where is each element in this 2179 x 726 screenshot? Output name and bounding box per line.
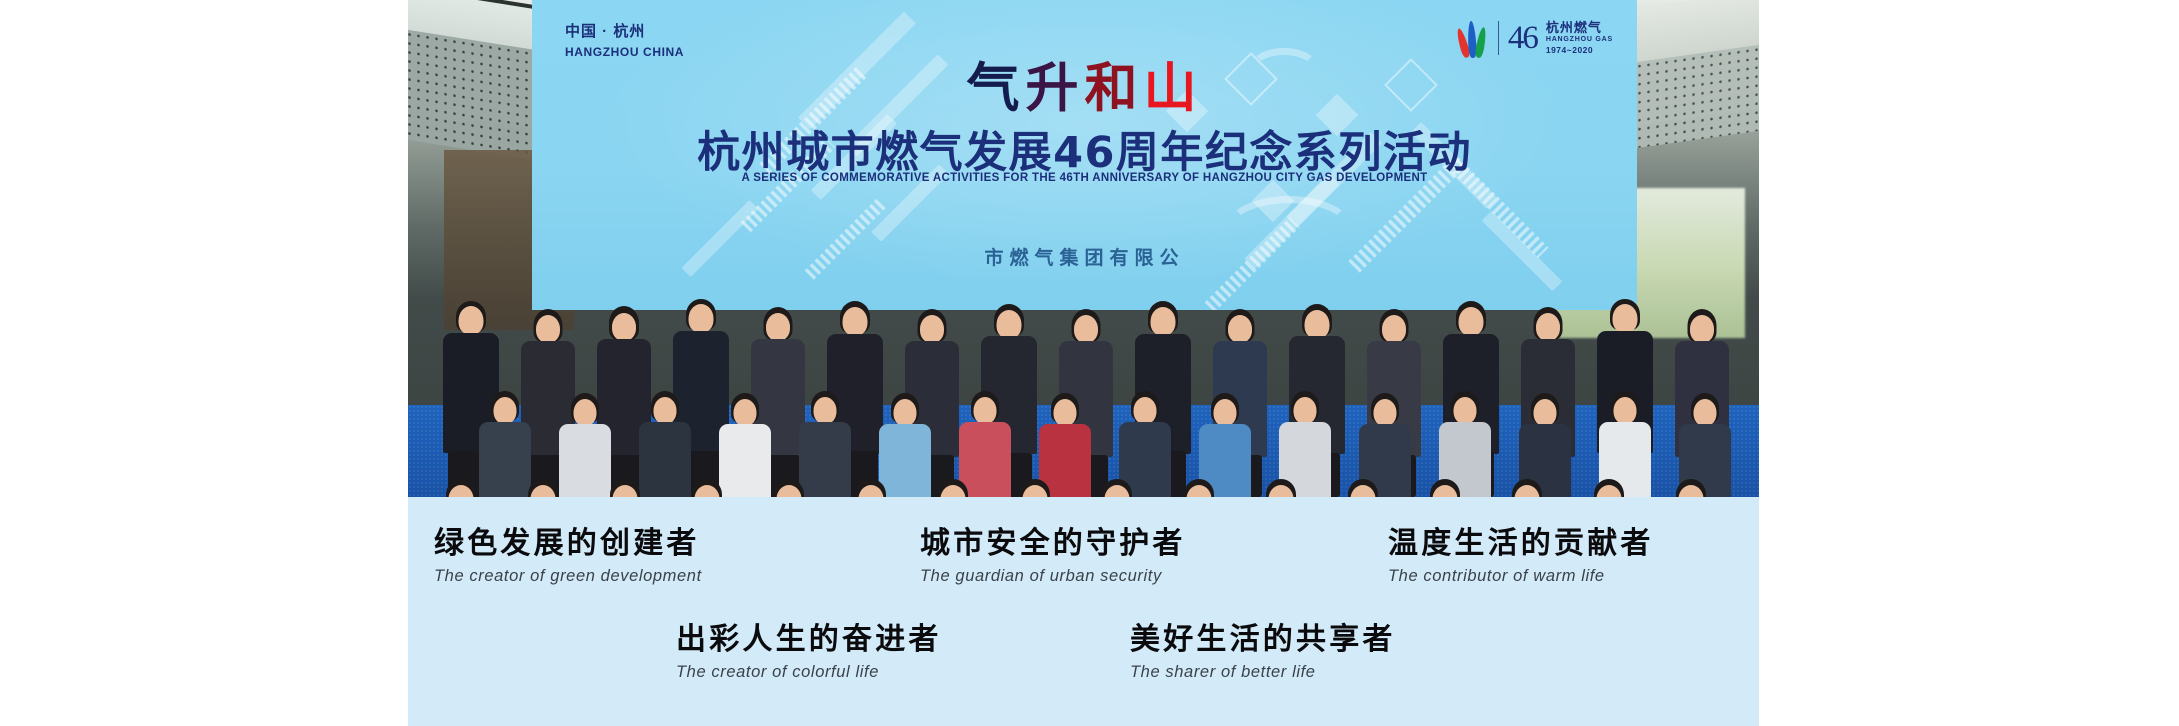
brand-text: 杭州燃气 HANGZHOU GAS 1974~2020 [1546, 20, 1613, 56]
person [512, 479, 574, 497]
person [1250, 479, 1312, 497]
slogan-cn: 美好生活的共享者 [1130, 623, 1396, 656]
flame-icon [1459, 18, 1489, 58]
content-column: 中国 · 杭州 HANGZHOU CHINA 46 杭州燃气 HANGZHOU … [408, 0, 1759, 726]
slogan-en: The contributor of warm life [1388, 567, 1654, 586]
anniversary-years: 1974~2020 [1546, 45, 1613, 56]
person [758, 479, 820, 497]
person [676, 479, 738, 497]
slogan-item-3: 温度生活的贡献者 The contributor of warm life [1388, 527, 1654, 586]
person [1004, 479, 1066, 497]
slogan-item-5: 美好生活的共享者 The sharer of better life [1130, 623, 1396, 682]
location-cn: 中国 · 杭州 [565, 24, 684, 41]
crowd [408, 170, 1759, 497]
screenshot-canvas: 中国 · 杭州 HANGZHOU CHINA 46 杭州燃气 HANGZHOU … [0, 0, 2179, 726]
slogan-item-1: 绿色发展的创建者 The creator of green developmen… [434, 527, 702, 586]
person [922, 479, 984, 497]
person [1086, 479, 1148, 497]
wordmark-char-3: 和 [1085, 58, 1144, 119]
person [1414, 479, 1476, 497]
location-block: 中国 · 杭州 HANGZHOU CHINA [565, 24, 684, 59]
slogan-cn: 绿色发展的创建者 [434, 527, 702, 560]
person [1496, 479, 1558, 497]
group-photo: 中国 · 杭州 HANGZHOU CHINA 46 杭州燃气 HANGZHOU … [408, 0, 1759, 497]
event-wordmark: 气升和山 [967, 46, 1203, 122]
person [1332, 479, 1394, 497]
slogan-en: The creator of colorful life [676, 663, 942, 682]
person [1168, 479, 1230, 497]
logo-divider [1498, 21, 1499, 55]
company-name-en: HANGZHOU GAS [1546, 36, 1613, 45]
person [594, 479, 656, 497]
slogan-en: The guardian of urban security [920, 567, 1186, 586]
company-name-cn: 杭州燃气 [1546, 20, 1613, 36]
slogan-en: The creator of green development [434, 567, 702, 586]
slogan-cn: 温度生活的贡献者 [1388, 527, 1654, 560]
anniversary-number: 46 [1508, 22, 1537, 55]
person [1660, 479, 1722, 497]
house-roof-icon [1248, 48, 1320, 92]
slogan-en: The sharer of better life [1130, 663, 1396, 682]
wordmark-char-4: 山 [1144, 58, 1203, 119]
slogan-cn: 城市安全的守护者 [920, 527, 1186, 560]
slogan-item-4: 出彩人生的奋进者 The creator of colorful life [676, 623, 942, 682]
wordmark-char-1: 气 [967, 58, 1026, 119]
slogan-item-2: 城市安全的守护者 The guardian of urban security [920, 527, 1186, 586]
brand-logo: 46 杭州燃气 HANGZHOU GAS 1974~2020 [1459, 18, 1613, 58]
person [1578, 479, 1640, 497]
location-en: HANGZHOU CHINA [565, 45, 684, 59]
person [430, 479, 492, 497]
person [840, 479, 902, 497]
slogan-panel: 绿色发展的创建者 The creator of green developmen… [408, 497, 1759, 726]
slogan-cn: 出彩人生的奋进者 [676, 623, 942, 656]
wordmark-char-2: 升 [1026, 58, 1085, 119]
crowd-row-front [408, 278, 1759, 497]
